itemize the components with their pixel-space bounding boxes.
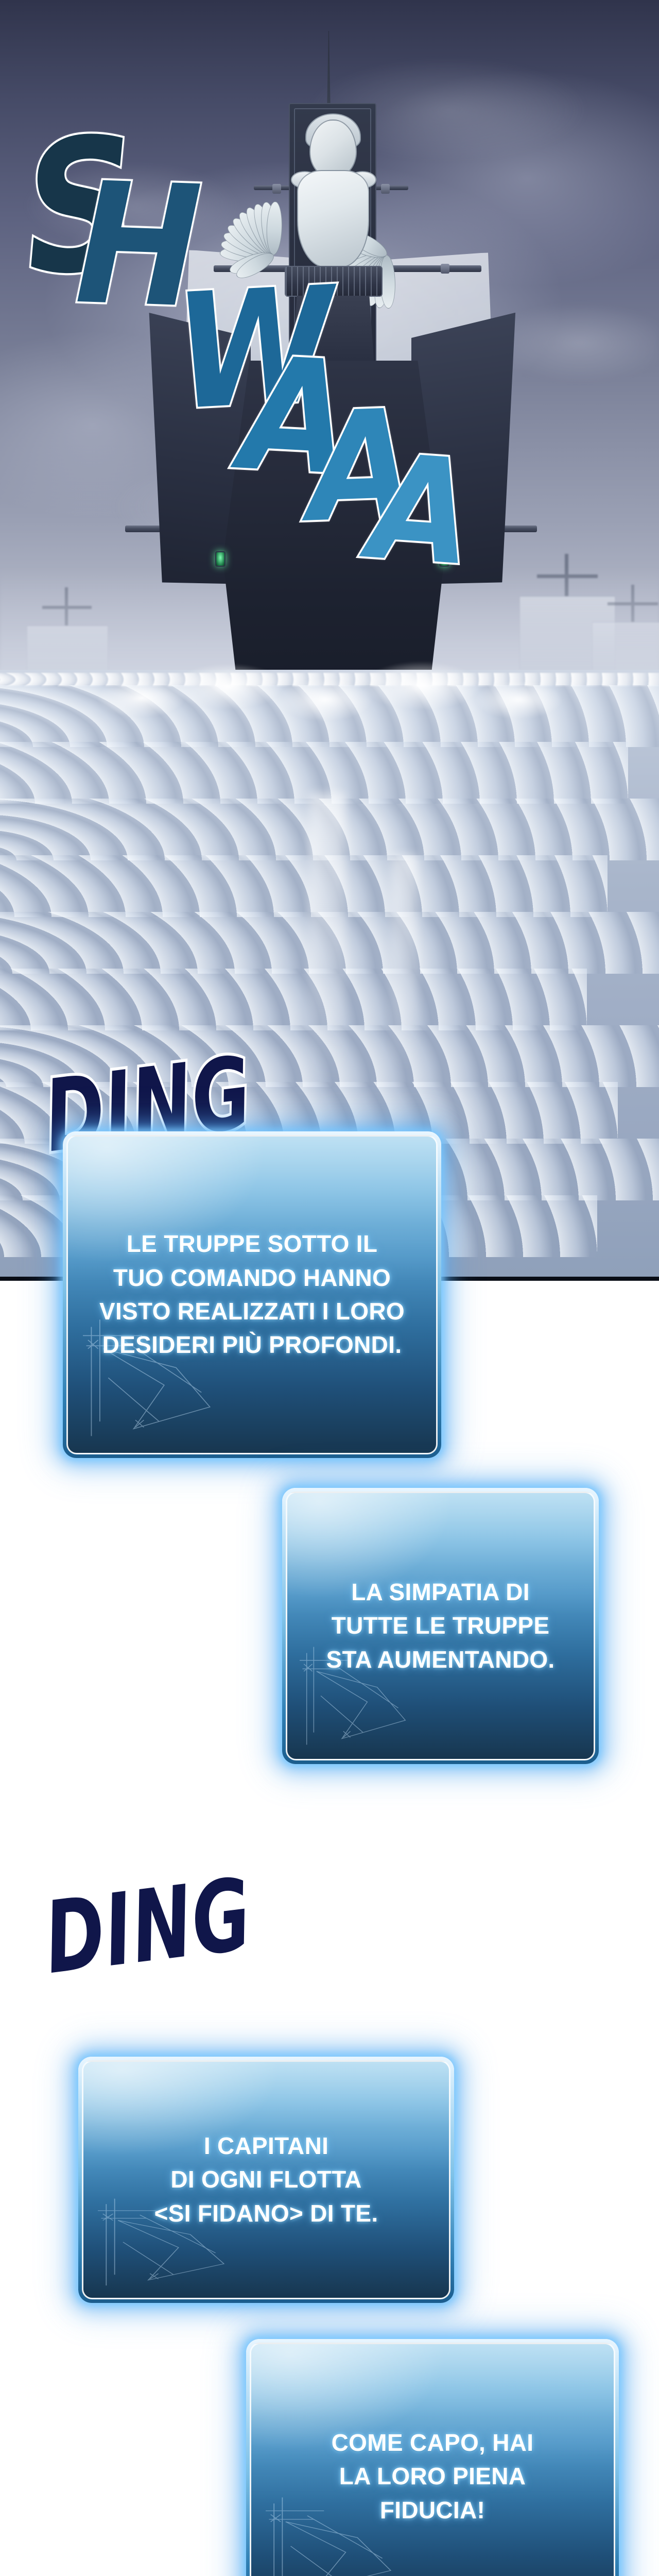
system-message-box-3: I CAPITANI DI OGNI FLOTTA <SI FIDANO> DI…	[78, 2057, 454, 2303]
wave-row	[0, 855, 608, 917]
flagship	[125, 31, 537, 737]
angel-wing-left	[154, 170, 283, 340]
bow-splash	[93, 652, 577, 729]
system-message-text: LE TRUPPE SOTTO IL TUO COMANDO HANNO VIS…	[94, 1227, 410, 1362]
system-message-inner: LA SIMPATIA DI TUTTE LE TRUPPE STA AUMEN…	[286, 1492, 595, 1760]
sea-mist-ray	[391, 855, 417, 1072]
angel-head	[309, 120, 357, 177]
system-message-text: COME CAPO, HAI LA LORO PIENA FIDUCIA!	[276, 2426, 588, 2527]
sfx-ding-2: DING	[40, 1865, 257, 1989]
system-message-inner: LE TRUPPE SOTTO IL TUO COMANDO HANNO VIS…	[66, 1135, 438, 1454]
lantern-green-right	[439, 551, 449, 567]
system-message-text: I CAPITANI DI OGNI FLOTTA <SI FIDANO> DI…	[109, 2129, 424, 2230]
system-message-box-2: LA SIMPATIA DI TUTTE LE TRUPPE STA AUMEN…	[282, 1488, 599, 1764]
belt-ribs	[286, 267, 381, 296]
system-message-text: LA SIMPATIA DI TUTTE LE TRUPPE STA AUMEN…	[309, 1575, 573, 1676]
lantern-green-left	[215, 551, 226, 567]
angel-wing-right	[381, 170, 510, 340]
sea-mist-ray	[309, 793, 345, 1082]
system-message-inner: I CAPITANI DI OGNI FLOTTA <SI FIDANO> DI…	[82, 2060, 450, 2299]
artwork-panel: S H W A A A	[0, 0, 659, 1281]
angel-belt	[285, 266, 383, 297]
angel-torso	[297, 170, 369, 268]
system-message-inner: COME CAPO, HAI LA LORO PIENA FIDUCIA!	[250, 2343, 615, 2576]
wave-row	[0, 969, 587, 1030]
system-message-box-1: LE TRUPPE SOTTO IL TUO COMANDO HANNO VIS…	[63, 1131, 441, 1458]
webtoon-page: S H W A A A DING	[0, 0, 659, 2576]
system-message-box-4: COME CAPO, HAI LA LORO PIENA FIDUCIA!	[246, 2339, 619, 2576]
